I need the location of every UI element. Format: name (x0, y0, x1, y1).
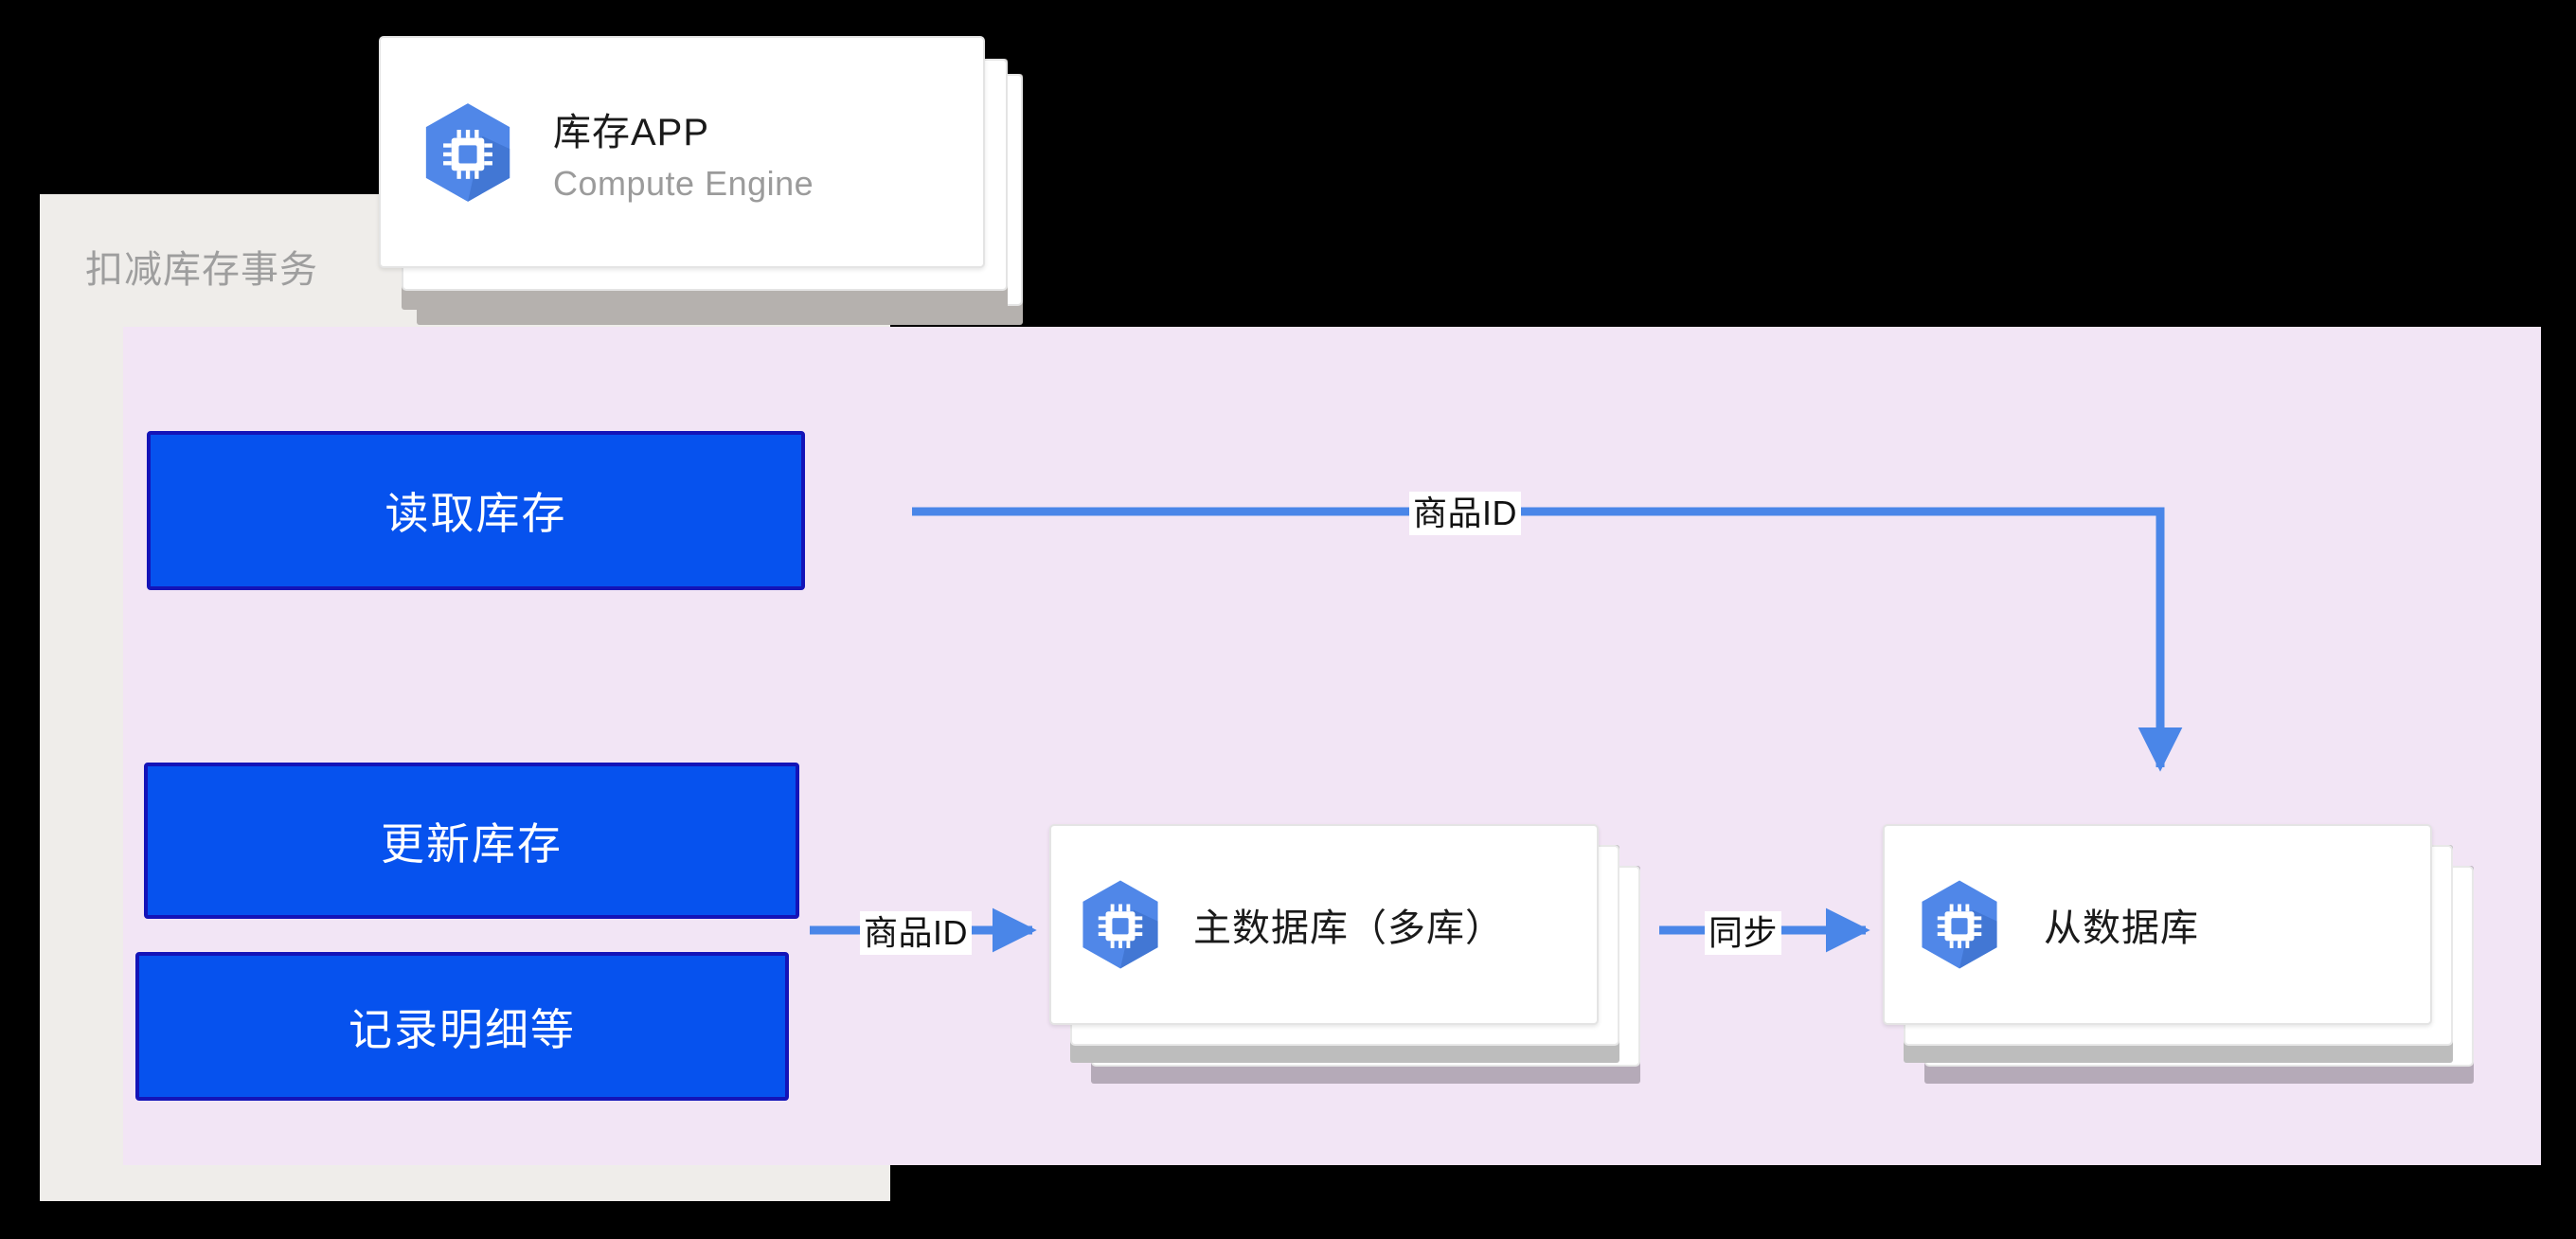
edge-label-update-to-master: 商品ID (860, 911, 972, 955)
edge-label-master-to-slave: 同步 (1705, 911, 1781, 955)
card-front-master-database[interactable]: 主数据库（多库） (1049, 824, 1599, 1025)
card-title-inventory-app: 库存APP (553, 101, 814, 156)
action-box-read-inventory[interactable]: 读取库存 (147, 431, 805, 590)
action-box-update-inventory[interactable]: 更新库存 (144, 763, 799, 919)
diagram-canvas: 扣减库存事务 读取库存 更新库存 记录明细等 (0, 0, 2576, 1239)
compute-engine-icon (1080, 878, 1161, 971)
node-card-slave-database[interactable]: 从数据库 (1883, 824, 2489, 1070)
action-box-record-detail[interactable]: 记录明细等 (135, 952, 789, 1101)
card-front-slave-database[interactable]: 从数据库 (1883, 824, 2432, 1025)
card-title-slave-database: 从数据库 (2044, 897, 2199, 952)
card-subtitle-inventory-app: Compute Engine (553, 164, 814, 204)
edge-label-read-to-slave: 商品ID (1409, 492, 1521, 535)
compute-engine-icon (1919, 878, 2000, 971)
card-title-master-database: 主数据库（多库） (1193, 897, 1504, 952)
card-text-master-database: 主数据库（多库） (1193, 897, 1504, 952)
card-text-slave-database: 从数据库 (2044, 897, 2199, 952)
node-card-inventory-app[interactable]: 库存APP Compute Engine (379, 36, 1023, 287)
card-text-inventory-app: 库存APP Compute Engine (553, 101, 814, 204)
compute-engine-icon (422, 101, 513, 204)
card-front-inventory-app[interactable]: 库存APP Compute Engine (379, 36, 985, 268)
transaction-group-title: 扣减库存事务 (85, 239, 318, 294)
node-card-master-database[interactable]: 主数据库（多库） (1049, 824, 1655, 1070)
